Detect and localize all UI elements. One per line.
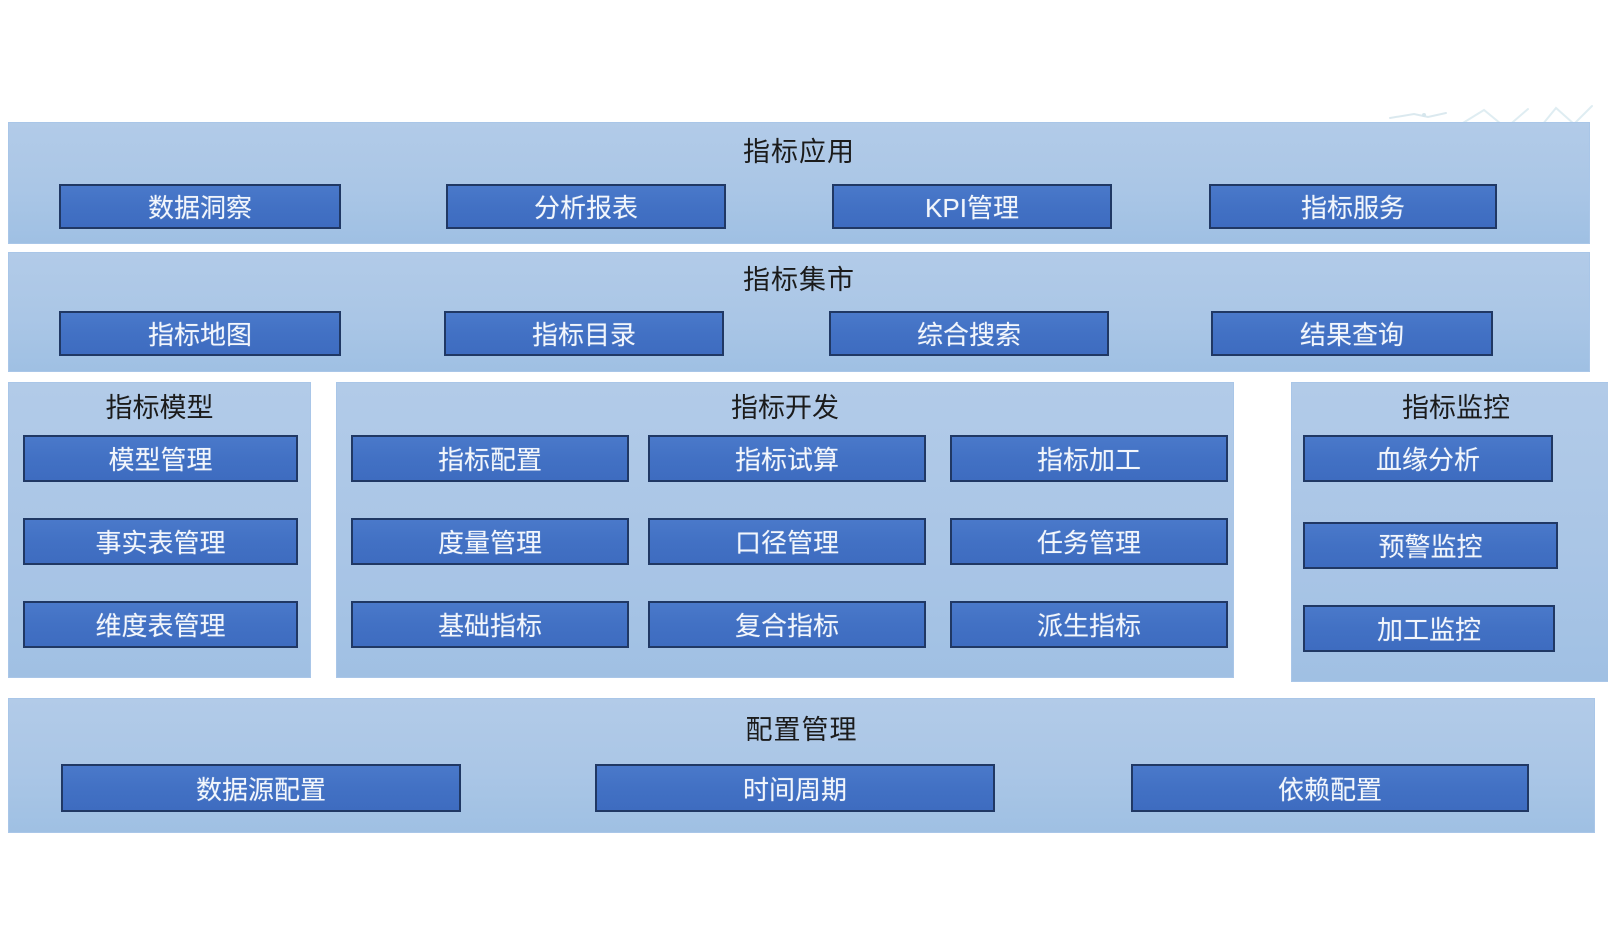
- layer-title-indicator-marketplace: 指标集市: [9, 267, 1589, 294]
- panel-title-indicator-monitoring: 指标监控: [1292, 395, 1608, 422]
- button-basic-indicator[interactable]: 基础指标: [351, 601, 629, 648]
- button-dimension-table-management[interactable]: 维度表管理: [23, 601, 298, 648]
- panel-indicator-model: 指标模型 模型管理 事实表管理 维度表管理: [8, 382, 311, 678]
- button-indicator-map[interactable]: 指标地图: [59, 311, 341, 356]
- button-indicator-trial-calculation[interactable]: 指标试算: [648, 435, 926, 482]
- button-dependency-configuration[interactable]: 依赖配置: [1131, 764, 1529, 812]
- panel-title-indicator-model: 指标模型: [9, 395, 310, 422]
- button-processing-monitoring[interactable]: 加工监控: [1303, 605, 1555, 652]
- button-measure-management[interactable]: 度量管理: [351, 518, 629, 565]
- button-composite-indicator[interactable]: 复合指标: [648, 601, 926, 648]
- button-indicator-configuration[interactable]: 指标配置: [351, 435, 629, 482]
- button-model-management[interactable]: 模型管理: [23, 435, 298, 482]
- architecture-diagram-canvas: 指标应用 数据洞察 分析报表 KPI管理 指标服务 指标集市 指标地图 指标目录…: [0, 0, 1608, 940]
- button-caliber-management[interactable]: 口径管理: [648, 518, 926, 565]
- layer-indicator-marketplace: 指标集市 指标地图 指标目录 综合搜索 结果查询: [8, 252, 1590, 372]
- button-comprehensive-search[interactable]: 综合搜索: [829, 311, 1109, 356]
- panel-indicator-development: 指标开发 指标配置 度量管理 基础指标 指标试算 口径管理 复合指标 指标加工 …: [336, 382, 1234, 678]
- layer-title-indicator-application: 指标应用: [9, 139, 1589, 166]
- button-lineage-analysis[interactable]: 血缘分析: [1303, 435, 1553, 482]
- layer-title-configuration-management: 配置管理: [9, 717, 1594, 744]
- button-analysis-report[interactable]: 分析报表: [446, 184, 726, 229]
- button-indicator-catalog[interactable]: 指标目录: [444, 311, 724, 356]
- button-derived-indicator[interactable]: 派生指标: [950, 601, 1228, 648]
- button-time-period[interactable]: 时间周期: [595, 764, 995, 812]
- layer-indicator-application: 指标应用 数据洞察 分析报表 KPI管理 指标服务: [8, 122, 1590, 244]
- button-alert-monitoring[interactable]: 预警监控: [1303, 522, 1558, 569]
- button-kpi-management[interactable]: KPI管理: [832, 184, 1112, 229]
- button-data-insight[interactable]: 数据洞察: [59, 184, 341, 229]
- panel-title-indicator-development: 指标开发: [337, 395, 1233, 422]
- button-task-management[interactable]: 任务管理: [950, 518, 1228, 565]
- button-datasource-configuration[interactable]: 数据源配置: [61, 764, 461, 812]
- button-indicator-service[interactable]: 指标服务: [1209, 184, 1497, 229]
- layer-configuration-management: 配置管理 数据源配置 时间周期 依赖配置: [8, 698, 1595, 833]
- button-indicator-processing[interactable]: 指标加工: [950, 435, 1228, 482]
- panel-indicator-monitoring: 指标监控 血缘分析 预警监控 加工监控: [1291, 382, 1608, 682]
- button-result-query[interactable]: 结果查询: [1211, 311, 1493, 356]
- button-fact-table-management[interactable]: 事实表管理: [23, 518, 298, 565]
